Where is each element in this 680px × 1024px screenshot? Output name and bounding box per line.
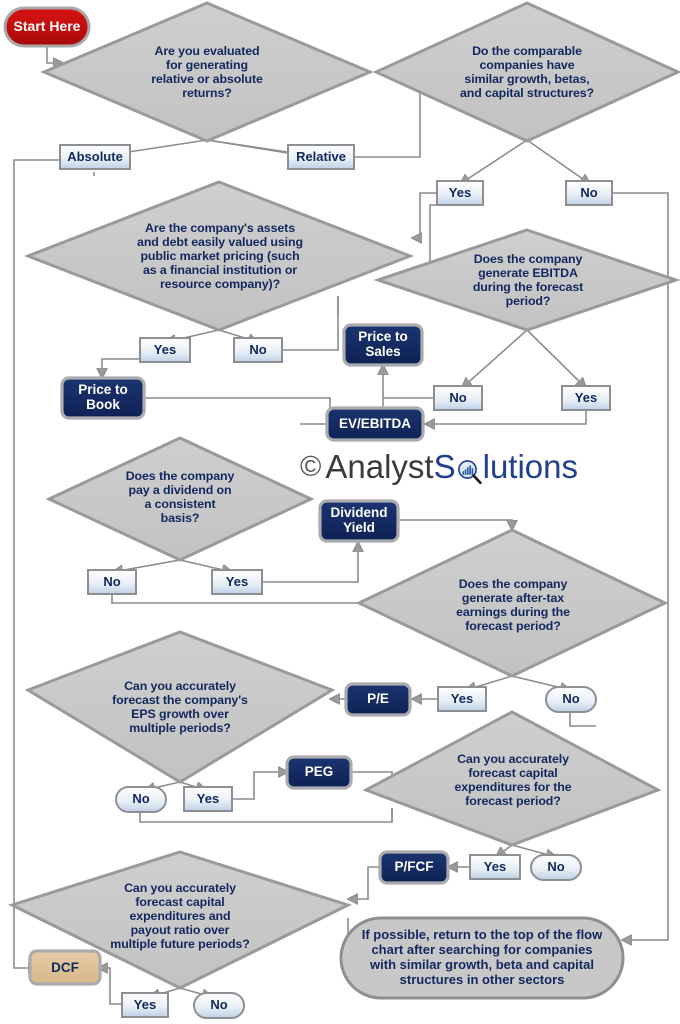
analystsolutions-watermark: © Analyst S lutions (300, 448, 578, 486)
branch-absolute (60, 145, 130, 169)
terminal-pe (346, 684, 410, 715)
branch-d4-no (434, 386, 482, 410)
branch-d3-yes (140, 338, 190, 362)
copyright-symbol: © (300, 451, 321, 484)
decision-d7 (28, 632, 332, 782)
branch-d2-yes (437, 181, 483, 205)
decision-d4 (378, 230, 676, 330)
branch-d9-no (194, 993, 244, 1018)
terminal-peg (287, 757, 351, 788)
watermark-letter-s: S (434, 448, 456, 486)
branch-relative (288, 145, 354, 169)
terminal-price-to-book (62, 378, 144, 418)
decision-d2 (376, 3, 678, 141)
terminal-dividend-yield (320, 501, 398, 541)
decision-d3 (28, 182, 410, 330)
magnifying-glass-chart-icon (457, 459, 482, 484)
terminal-price-to-sales (344, 325, 422, 365)
branch-d5-yes (212, 570, 262, 594)
branch-d5-no (88, 570, 136, 594)
branch-d6-no (546, 687, 596, 712)
decision-d1 (44, 3, 370, 141)
terminal-dcf (30, 951, 100, 984)
branch-d2-no (566, 181, 612, 205)
decision-d5 (49, 438, 311, 560)
branch-d7-yes (184, 787, 232, 811)
terminal-ev-ebitda (327, 408, 423, 440)
branch-d9-yes (122, 993, 168, 1017)
branch-d7-no (116, 787, 166, 812)
terminal-pfcf (380, 852, 448, 883)
decision-d8 (366, 712, 658, 845)
flowchart-graphics (0, 0, 680, 1024)
start-here-shape (5, 8, 89, 46)
decision-d6 (359, 530, 665, 676)
branch-d6-yes (438, 687, 486, 711)
branch-d4-yes (562, 386, 610, 410)
watermark-word-lutions: lutions (483, 448, 578, 486)
branch-d8-no (531, 855, 581, 880)
note-box-shape (341, 918, 623, 998)
watermark-word-analyst: Analyst (325, 448, 433, 486)
flowchart-canvas: Start Here Are you evaluatedfor generati… (0, 0, 680, 1024)
branch-d8-yes (470, 855, 520, 879)
branch-d3-no (234, 338, 282, 362)
